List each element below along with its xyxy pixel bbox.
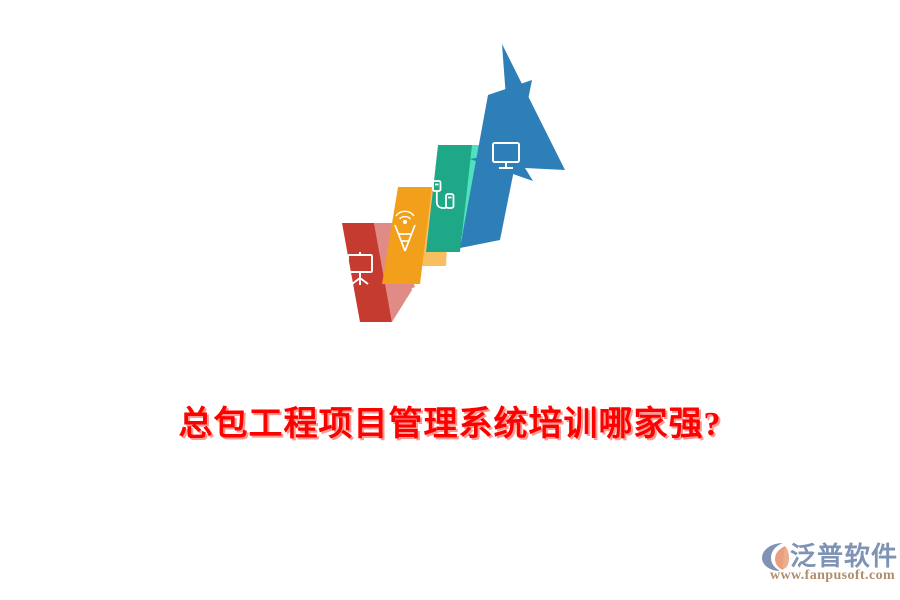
- brand-logo[interactable]: 泛普软件 www.fanpusoft.com: [758, 536, 898, 592]
- page-title: 总包工程项目管理系统培训哪家强?: [0, 396, 900, 445]
- poster-canvas: 总包工程项目管理系统培训哪家强? 泛普软件 www.fanpusoft.com: [0, 0, 900, 600]
- arrow-head: [470, 44, 565, 181]
- brand-url[interactable]: www.fanpusoft.com: [770, 568, 895, 584]
- ascending-arrow-infographic: [320, 40, 590, 340]
